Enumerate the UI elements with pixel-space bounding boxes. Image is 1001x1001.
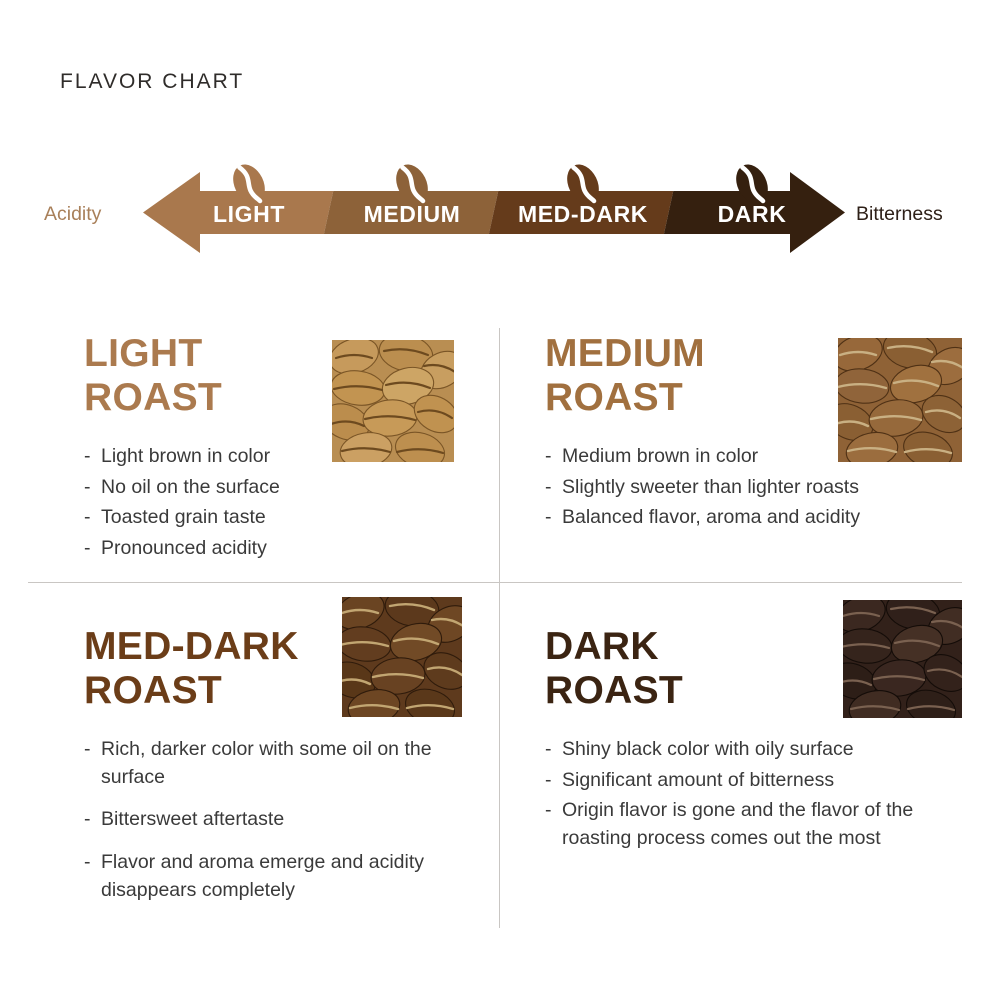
list-item: Rich, darker color with some oil on the … <box>84 736 484 791</box>
page-title: FLAVOR CHART <box>60 70 244 94</box>
segment-label-dark: DARK <box>718 201 787 227</box>
roast-bullets-med-dark: Rich, darker color with some oil on the … <box>84 736 484 904</box>
list-item: Flavor and aroma emerge and acidity disa… <box>84 849 484 904</box>
light-roast-beans-photo <box>332 340 454 462</box>
horizontal-divider <box>28 582 962 583</box>
list-item: Significant amount of bitterness <box>545 767 965 795</box>
list-item: Toasted grain taste <box>84 504 484 532</box>
list-item: Bittersweet aftertaste <box>84 806 484 834</box>
roast-spectrum: LIGHT MEDIUM MED-DARK DARK Acidity Bitte… <box>0 160 1001 275</box>
list-item: Pronounced acidity <box>84 535 484 563</box>
list-item: Balanced flavor, aroma and acidity <box>545 504 965 532</box>
segment-label-med-dark: MED-DARK <box>518 201 648 227</box>
list-item: No oil on the surface <box>84 474 484 502</box>
roast-bullets-dark: Shiny black color with oily surface Sign… <box>545 736 965 853</box>
med-dark-roast-beans-photo <box>342 597 462 717</box>
vertical-divider <box>499 328 500 928</box>
list-item: Slightly sweeter than lighter roasts <box>545 474 965 502</box>
segment-label-medium: MEDIUM <box>364 201 461 227</box>
bitterness-label: Bitterness <box>856 203 943 225</box>
flavor-chart-page: FLAVOR CHART <box>0 0 1001 1001</box>
segment-label-light: LIGHT <box>213 201 285 227</box>
medium-roast-beans-photo <box>838 338 962 462</box>
list-item: Origin flavor is gone and the flavor of … <box>545 797 965 852</box>
dark-roast-beans-photo <box>843 600 962 718</box>
acidity-label: Acidity <box>44 203 102 225</box>
list-item: Shiny black color with oily surface <box>545 736 965 764</box>
roast-spectrum-arrow: LIGHT MEDIUM MED-DARK DARK Acidity Bitte… <box>0 160 1001 275</box>
